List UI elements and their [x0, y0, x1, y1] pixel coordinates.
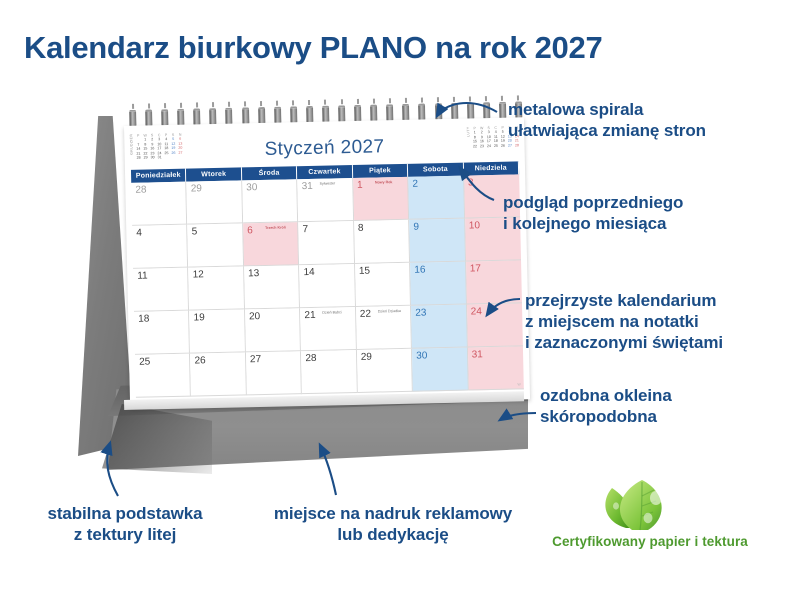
day-number: 25 [139, 356, 150, 367]
calendar-day-cell: 8 [354, 220, 410, 264]
spiral-coil [435, 103, 442, 120]
weekday-header: Piątek [353, 164, 409, 178]
day-number: 21 [304, 310, 315, 321]
calendar-day-cell: 1Nowy Rok [353, 177, 409, 221]
day-number: 6 [247, 225, 253, 236]
annotation-preview-line2: i kolejnego miesiąca [503, 213, 683, 234]
spiral-coil-tick [389, 98, 391, 103]
desk-calendar-product: GRUDZIEŃ PWŚCPSN123456789101112131415161… [78, 104, 538, 494]
weekday-header: Sobota [408, 163, 464, 177]
day-number: 14 [303, 267, 314, 278]
spiral-coil [274, 107, 281, 124]
calendar-day-cell: 24 [467, 303, 523, 347]
spiral-coil [322, 106, 329, 123]
calendar-sheet: GRUDZIEŃ PWŚCPSN123456789101112131415161… [124, 117, 530, 408]
day-number: 28 [305, 353, 316, 364]
day-note: W [517, 382, 520, 386]
day-number: 22 [360, 309, 371, 320]
annotation-print-line1: miejsce na nadruk reklamowy [248, 503, 538, 524]
annotation-grid-line2: z miejscem na notatki [525, 311, 723, 332]
day-number: 10 [469, 220, 480, 231]
calendar-day-cell: 21Dzień Babci [300, 307, 356, 351]
spiral-coil-tick [469, 96, 471, 101]
calendar-day-cell: 6Trzech Króli [243, 222, 299, 266]
calendar-day-cell: 318 [134, 311, 190, 355]
calendar-day-cell: 15 [355, 263, 411, 307]
calendar-day-cell: 16 [410, 262, 466, 306]
spiral-coil [499, 102, 506, 119]
day-number: 17 [470, 263, 481, 274]
spiral-coil-tick [212, 102, 214, 107]
annotation-spiral-line2: ułatwiająca zmianę stron [508, 120, 706, 141]
day-number: 4 [136, 228, 142, 239]
annotation-month-preview: podgląd poprzedniego i kolejnego miesiąc… [503, 192, 683, 234]
calendar-day-cell: 27 [246, 351, 302, 395]
spiral-coil-tick [421, 98, 423, 103]
calendar-day-cell: 14 [132, 225, 188, 269]
calendar-day-cell: 31Sylwester [297, 178, 353, 222]
day-note: Dzień Dziadka [378, 310, 409, 314]
annotation-print-line2: lub dedykację [248, 524, 538, 545]
month-title: Styczeń 2027 [124, 133, 524, 164]
calendar-day-cell: 2 [408, 176, 464, 220]
calendar-day-cell: 13 [244, 265, 300, 309]
month-grid: PoniedziałekWtorekŚrodaCzwartekPiątekSob… [131, 161, 524, 397]
spiral-coil [145, 109, 152, 126]
calendar-day-cell: 29 [357, 349, 413, 393]
spiral-coil-tick [228, 102, 230, 107]
day-number: 18 [138, 313, 149, 324]
annotation-stand-line2: z tektury litej [10, 524, 240, 545]
day-number: 2 [412, 179, 418, 190]
calendar-day-cell: 28 [301, 350, 357, 394]
day-number: 5 [192, 226, 198, 237]
spiral-coil [402, 104, 409, 121]
annotation-stand: stabilna podstawka z tektury litej [10, 503, 240, 545]
spiral-coil-tick [340, 99, 342, 104]
spiral-coil-tick [357, 99, 359, 104]
spiral-coil-tick [180, 103, 182, 108]
calendar-day-cell: 14 [299, 264, 355, 308]
day-number: 29 [191, 183, 202, 194]
weekday-header: Środa [242, 166, 298, 180]
spiral-coil [129, 110, 136, 127]
calendar-day-cell: 19 [189, 309, 245, 353]
spiral-coil-tick [324, 100, 326, 105]
day-number: 26 [194, 355, 205, 366]
day-number: 30 [416, 350, 427, 361]
day-number: 16 [414, 264, 425, 275]
day-number: 15 [359, 266, 370, 277]
spiral-coil-tick [244, 101, 246, 106]
eco-logo-caption: Certyfikowany papier i tektura [508, 534, 792, 549]
annotation-spiral: metalowa spirala ułatwiająca zmianę stro… [508, 99, 706, 141]
day-number: 27 [250, 354, 261, 365]
calendar-day-cell: 7 [298, 221, 354, 265]
annotation-preview-line1: podgląd poprzedniego [503, 192, 683, 213]
spiral-coil-tick [131, 104, 133, 109]
spiral-coil-tick [373, 99, 375, 104]
calendar-day-cell: 5 [188, 223, 244, 267]
calendar-day-cell: 17 [466, 260, 522, 304]
spiral-coil-tick [405, 98, 407, 103]
day-number: 31 [472, 349, 483, 360]
spiral-coil-tick [437, 97, 439, 102]
calendar-day-cell: 211 [133, 268, 189, 312]
day-number: 24 [471, 306, 482, 317]
annotation-veneer-line2: skóropodobna [540, 406, 672, 427]
weekday-header: Czwartek [297, 165, 353, 179]
spiral-coil-tick [164, 103, 166, 108]
annotation-grid-line1: przejrzyste kalendarium [525, 290, 723, 311]
spiral-coil [226, 108, 233, 125]
spiral-coil-tick [148, 103, 150, 108]
day-number: 9 [413, 222, 419, 233]
day-number: 11 [137, 271, 148, 282]
day-number: 13 [248, 268, 259, 279]
page-title: Kalendarz biurkowy PLANO na rok 2027 [24, 30, 776, 66]
calendar-day-cell: 30 [412, 348, 468, 392]
spiral-coil [161, 109, 168, 126]
spiral-coil-tick [292, 100, 294, 105]
annotation-grid-line3: i zaznaczonymi świętami [525, 332, 723, 353]
spiral-coil-tick [453, 97, 455, 102]
annotation-stand-line1: stabilna podstawka [10, 503, 240, 524]
spiral-coil [306, 106, 313, 123]
green-leaves-icon [508, 478, 792, 534]
annotation-print-area: miejsce na nadruk reklamowy lub dedykacj… [248, 503, 538, 545]
calendar-day-cell: 425 [135, 354, 191, 398]
spiral-coil-tick [276, 101, 278, 106]
calendar-day-cell: 29 [187, 180, 243, 224]
weekday-header: Wtorek [186, 167, 242, 181]
day-note: Dzień Babci [322, 311, 352, 315]
annotation-spiral-line1: metalowa spirala [508, 99, 706, 120]
spiral-coil [210, 108, 217, 125]
calendar-day-cell: 23 [411, 305, 467, 349]
calendar-day-cell: 9 [409, 219, 465, 263]
calendar-day-cell: 12 [189, 266, 245, 310]
calendar-day-cell: 30 [242, 179, 298, 223]
spiral-coil [242, 107, 249, 124]
calendar-day-cell: 31W [467, 346, 523, 390]
day-note: Trzech Króli [265, 226, 296, 230]
weekday-header: Niedziela [463, 161, 519, 175]
spiral-coil [290, 106, 297, 123]
spiral-coil [370, 105, 377, 122]
annotation-veneer: ozdobna okleina skóropodobna [540, 385, 672, 427]
calendar-page: GRUDZIEŃ PWŚCPSN123456789101112131415161… [124, 117, 530, 408]
spiral-coil-tick [485, 96, 487, 101]
spiral-coil-tick [308, 100, 310, 105]
day-number: 1 [357, 180, 363, 191]
day-note: Sylwester [320, 182, 350, 186]
day-number: 7 [302, 224, 308, 235]
spiral-coil [451, 103, 458, 120]
day-number: 19 [194, 312, 205, 323]
weekday-header: Poniedziałek [131, 169, 187, 183]
day-number: 23 [415, 307, 426, 318]
spiral-coil [386, 104, 393, 121]
spiral-coil [467, 102, 474, 119]
annotation-veneer-line1: ozdobna okleina [540, 385, 672, 406]
spiral-coil [258, 107, 265, 124]
day-number: 3 [468, 177, 474, 188]
calendar-day-cell: 5328 [131, 182, 187, 226]
day-number: 29 [361, 352, 372, 363]
annotation-clear-grid: przejrzyste kalendarium z miejscem na no… [525, 290, 723, 353]
spiral-coil [354, 105, 361, 122]
day-note: Nowy Rok [375, 181, 406, 185]
day-number: 20 [249, 311, 260, 322]
calendar-day-cell: 22Dzień Dziadka [356, 306, 412, 350]
spiral-coil [338, 105, 345, 122]
day-number: 12 [193, 269, 204, 280]
spiral-coil-tick [260, 101, 262, 106]
eco-certification-logo: Certyfikowany papier i tektura [508, 478, 792, 560]
spiral-coil-tick [501, 96, 503, 101]
calendar-day-cell: 26 [190, 352, 246, 396]
spiral-coil [483, 102, 490, 119]
day-number: 8 [358, 223, 364, 234]
infographic-canvas: Kalendarz biurkowy PLANO na rok 2027 GRU… [0, 0, 800, 591]
calendar-day-cell: 20 [245, 308, 301, 352]
spiral-coil [193, 108, 200, 125]
day-number: 31 [302, 181, 313, 192]
day-number: 28 [135, 185, 146, 196]
spiral-coil [418, 103, 425, 120]
spiral-coil-tick [196, 102, 198, 107]
day-number: 30 [246, 182, 257, 193]
spiral-coil [177, 109, 184, 126]
